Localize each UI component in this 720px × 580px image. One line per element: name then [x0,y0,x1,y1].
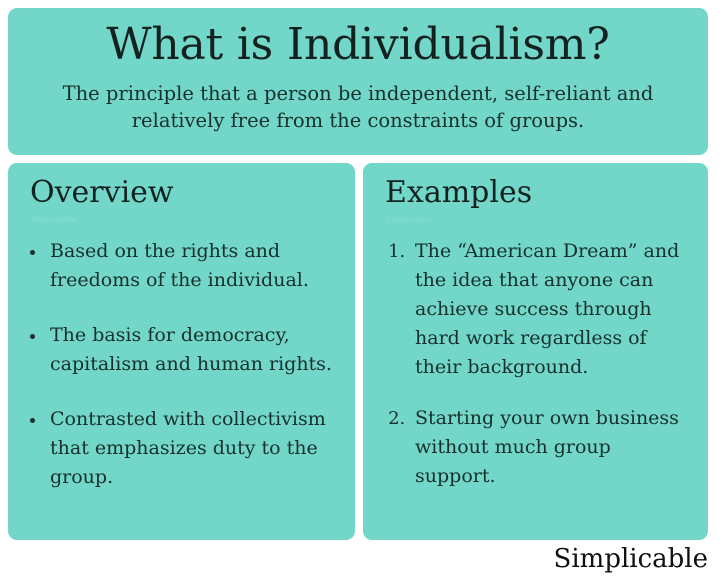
examples-card: Examples Simplicable The “American Dream… [363,163,708,540]
brand-logo-text: Simplicable [554,542,708,576]
list-item: Starting your own business without much … [411,404,694,491]
watermark-examples: Simplicable [386,215,694,225]
overview-list: Based on the rights and freedoms of the … [22,237,341,492]
list-item: The “American Dream” and the idea that a… [411,237,694,382]
list-item: Based on the rights and freedoms of the … [46,237,341,295]
page-title: What is Individualism? [34,14,682,76]
section-heading-overview: Overview [22,171,341,215]
watermark-overview: Simplicable [31,215,341,225]
infographic-canvas: What is Individualism? The principle tha… [0,0,720,580]
section-heading-examples: Examples [377,171,694,215]
examples-list: The “American Dream” and the idea that a… [377,237,694,491]
page-subtitle: The principle that a person be independe… [41,80,675,134]
overview-card: Overview Simplicable Based on the rights… [8,163,355,540]
list-item: Contrasted with collectivism that emphas… [46,405,341,492]
header-card: What is Individualism? The principle tha… [8,8,708,155]
list-item: The basis for democracy, capitalism and … [46,321,341,379]
